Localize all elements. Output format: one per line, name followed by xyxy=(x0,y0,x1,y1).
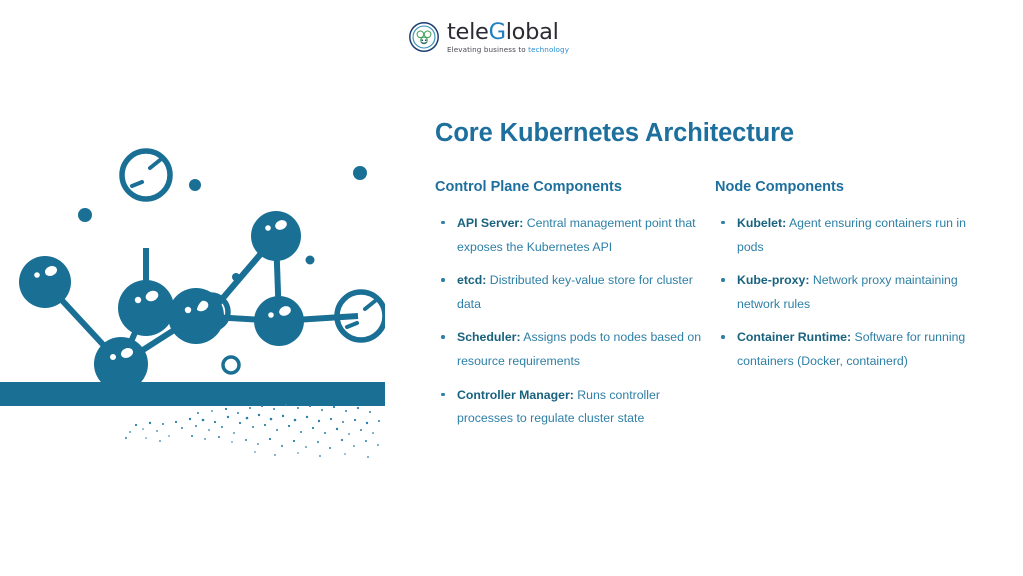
list-item-term: etcd: xyxy=(457,273,486,287)
bullet-dot-icon xyxy=(441,335,445,339)
bullet-dot-icon xyxy=(721,335,725,339)
bullet-dot-icon xyxy=(721,278,725,282)
logo-tagline: Elevating business to technology xyxy=(447,46,569,53)
logo-tagline-prefix: Elevating business to xyxy=(447,45,528,54)
list-item: Kubelet: Agent ensuring containers run i… xyxy=(715,212,995,259)
bullet-dot-icon xyxy=(441,221,445,225)
list-item-term: Container Runtime: xyxy=(737,330,851,344)
network-nodes xyxy=(19,211,304,391)
control-plane-list: API Server: Central management point tha… xyxy=(435,212,715,431)
list-item: Scheduler: Assigns pods to nodes based o… xyxy=(435,326,715,373)
control-plane-column: Control Plane Components API Server: Cen… xyxy=(435,179,715,441)
bullet-dot-icon xyxy=(441,393,445,397)
list-item: Controller Manager: Runs controller proc… xyxy=(435,384,715,431)
logo-word-g: G xyxy=(489,19,506,45)
molecular-network-graphic xyxy=(0,120,385,460)
column-heading-control-plane: Control Plane Components xyxy=(435,179,715,196)
list-item-term: API Server: xyxy=(457,216,523,230)
list-item-term: Kubelet: xyxy=(737,216,786,230)
logo-word-lobal: lobal xyxy=(506,19,559,45)
list-item-term: Scheduler: xyxy=(457,330,521,344)
logo-word-tele: tele xyxy=(447,19,489,45)
node-components-list: Kubelet: Agent ensuring containers run i… xyxy=(715,212,995,374)
list-item: Kube-proxy: Network proxy maintaining ne… xyxy=(715,269,995,316)
list-item: Container Runtime: Software for running … xyxy=(715,326,995,373)
teleglobal-globe-icon xyxy=(408,21,440,53)
logo-tagline-accent: technology xyxy=(528,45,569,54)
brand-logo: teleGlobal Elevating business to technol… xyxy=(408,16,553,58)
horizontal-base-bar xyxy=(0,382,385,406)
content-area: Core Kubernetes Architecture Control Pla… xyxy=(435,118,995,441)
component-columns: Control Plane Components API Server: Cen… xyxy=(435,179,995,441)
bullet-dot-icon xyxy=(721,221,725,225)
small-outline-circle xyxy=(223,357,239,373)
particle-field xyxy=(125,404,380,458)
node-components-column: Node Components Kubelet: Agent ensuring … xyxy=(715,179,995,384)
logo-wordmark-group: teleGlobal Elevating business to technol… xyxy=(447,21,569,54)
logo-wordmark: teleGlobal xyxy=(447,21,569,44)
list-item: etcd: Distributed key-value store for cl… xyxy=(435,269,715,316)
list-item-term: Controller Manager: xyxy=(457,388,574,402)
list-item-term: Kube-proxy: xyxy=(737,273,809,287)
column-heading-node-components: Node Components xyxy=(715,179,995,196)
bullet-dot-icon xyxy=(441,278,445,282)
page-title: Core Kubernetes Architecture xyxy=(435,118,995,149)
list-item-text: Distributed key-value store for cluster … xyxy=(457,273,693,311)
list-item: API Server: Central management point tha… xyxy=(435,212,715,259)
